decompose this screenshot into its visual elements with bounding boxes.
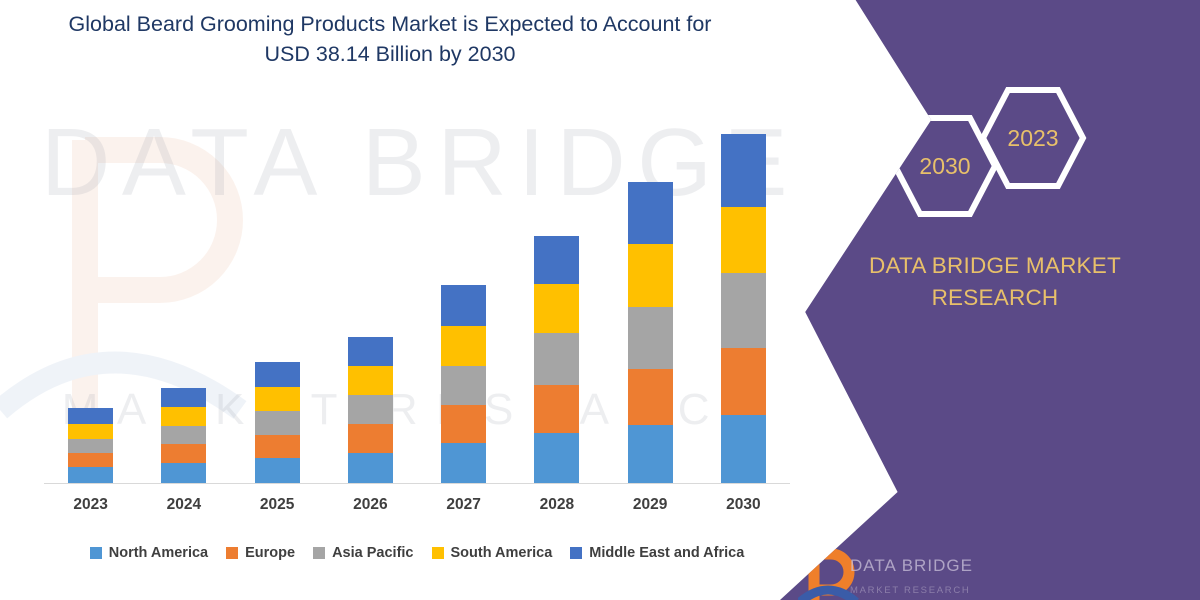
- bar-segment: [628, 369, 673, 425]
- stacked-bar[interactable]: [161, 388, 206, 483]
- bar-segment: [161, 426, 206, 444]
- bar-group: [606, 90, 694, 483]
- hexagon-2023-label: 2023: [978, 85, 1088, 191]
- bar-segment: [441, 405, 486, 443]
- x-axis-label: 2029: [606, 496, 694, 514]
- bar-segment: [534, 284, 579, 333]
- bar-group: [420, 90, 508, 483]
- bar-series-container: [44, 90, 790, 483]
- brand-line-1: DATA BRIDGE MARKET: [835, 250, 1155, 282]
- bar-segment: [161, 388, 206, 407]
- bar-segment: [68, 453, 113, 467]
- bar-segment: [534, 433, 579, 483]
- legend-swatch-icon: [90, 547, 102, 559]
- bar-segment: [721, 207, 766, 273]
- bar-segment: [68, 439, 113, 453]
- bar-segment: [161, 407, 206, 426]
- bar-segment: [628, 182, 673, 244]
- stacked-bar[interactable]: [68, 408, 113, 483]
- bar-segment: [721, 415, 766, 483]
- stacked-bar[interactable]: [534, 236, 579, 483]
- x-axis-label: 2030: [699, 496, 787, 514]
- bar-segment: [68, 424, 113, 439]
- x-axis-label: 2023: [47, 496, 135, 514]
- bar-segment: [441, 366, 486, 405]
- bar-group: [326, 90, 414, 483]
- legend-item[interactable]: North America: [90, 545, 208, 561]
- bar-group: [47, 90, 135, 483]
- x-axis-labels: 20232024202520262027202820292030: [44, 496, 790, 522]
- bar-segment: [348, 337, 393, 366]
- bar-segment: [348, 366, 393, 395]
- x-axis-label: 2028: [513, 496, 601, 514]
- bar-segment: [348, 395, 393, 424]
- legend-swatch-icon: [226, 547, 238, 559]
- brand-name: DATA BRIDGE MARKET RESEARCH: [835, 250, 1155, 314]
- legend-item[interactable]: South America: [432, 545, 553, 561]
- bar-segment: [721, 273, 766, 348]
- infographic-root: DATA BRIDGE MARKET RESEARCH Global Beard…: [0, 0, 1200, 600]
- legend-item[interactable]: Europe: [226, 545, 295, 561]
- bar-group: [140, 90, 228, 483]
- x-axis-line: [44, 483, 790, 484]
- legend-swatch-icon: [313, 547, 325, 559]
- legend-swatch-icon: [570, 547, 582, 559]
- bar-segment: [441, 326, 486, 366]
- footer-logo-subtext: MARKET RESEARCH: [850, 585, 971, 596]
- bar-segment: [721, 348, 766, 415]
- stacked-bar[interactable]: [628, 182, 673, 483]
- bar-group: [233, 90, 321, 483]
- hexagon-badges: 2030 2023: [890, 85, 1120, 220]
- legend-label: South America: [451, 545, 553, 561]
- bar-segment: [255, 435, 300, 458]
- bar-segment: [721, 134, 766, 207]
- chart-panel: Global Beard Grooming Products Market is…: [0, 0, 845, 600]
- x-axis-label: 2027: [420, 496, 508, 514]
- bar-segment: [348, 453, 393, 483]
- bar-segment: [628, 307, 673, 369]
- legend-label: Asia Pacific: [332, 545, 413, 561]
- bar-segment: [534, 236, 579, 284]
- stacked-bar[interactable]: [441, 285, 486, 483]
- hexagon-2023: 2023: [978, 85, 1088, 191]
- legend-label: Europe: [245, 545, 295, 561]
- bar-segment: [68, 467, 113, 483]
- bar-segment: [441, 443, 486, 483]
- bar-group: [513, 90, 601, 483]
- stacked-bar[interactable]: [721, 134, 766, 483]
- legend-item[interactable]: Middle East and Africa: [570, 545, 744, 561]
- legend-label: Middle East and Africa: [589, 545, 744, 561]
- bar-segment: [68, 408, 113, 424]
- chart-legend: North AmericaEuropeAsia PacificSouth Ame…: [44, 541, 790, 565]
- legend-item[interactable]: Asia Pacific: [313, 545, 413, 561]
- legend-swatch-icon: [432, 547, 444, 559]
- legend-label: North America: [109, 545, 208, 561]
- x-axis-label: 2025: [233, 496, 321, 514]
- bar-segment: [255, 411, 300, 435]
- bar-segment: [255, 387, 300, 411]
- bar-segment: [441, 285, 486, 326]
- footer-logo-text: DATA BRIDGE: [850, 556, 973, 576]
- stacked-bar[interactable]: [348, 337, 393, 483]
- brand-line-2: RESEARCH: [835, 282, 1155, 314]
- bar-group: [699, 90, 787, 483]
- plot-area: 20232024202520262027202820292030: [0, 0, 845, 600]
- bar-segment: [534, 333, 579, 385]
- bar-segment: [628, 244, 673, 307]
- bar-segment: [348, 424, 393, 453]
- bar-segment: [628, 425, 673, 483]
- bar-segment: [161, 463, 206, 483]
- bar-segment: [255, 362, 300, 387]
- bar-segment: [534, 385, 579, 433]
- bar-segment: [161, 444, 206, 463]
- bar-segment: [255, 458, 300, 483]
- x-axis-label: 2026: [326, 496, 414, 514]
- x-axis-label: 2024: [140, 496, 228, 514]
- stacked-bar[interactable]: [255, 362, 300, 483]
